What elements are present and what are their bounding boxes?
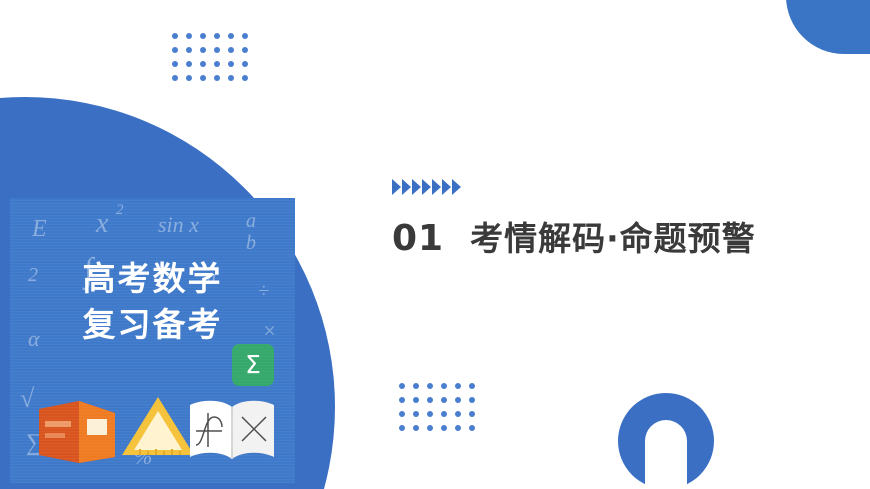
cover-card: Ex2sin xab2∫π÷α×√%∑ 高考数学 复习备考	[10, 198, 295, 483]
dot	[441, 383, 447, 389]
chevron-icon	[432, 179, 441, 195]
dot	[200, 47, 206, 53]
math-symbol: a	[246, 210, 256, 233]
dot	[427, 425, 433, 431]
math-symbol: 2	[116, 202, 124, 219]
chevron-icon	[412, 179, 421, 195]
dot-grid-top	[172, 33, 248, 81]
dot	[413, 383, 419, 389]
section-number: 01	[392, 218, 444, 259]
sigma-badge: Σ	[232, 344, 274, 386]
dot	[455, 383, 461, 389]
dot	[455, 425, 461, 431]
dot	[172, 75, 178, 81]
dot	[455, 397, 461, 403]
dot	[427, 383, 433, 389]
dot	[172, 61, 178, 67]
dot	[200, 61, 206, 67]
math-symbol: sin x	[158, 212, 199, 238]
dot	[399, 411, 405, 417]
chevron-icon	[402, 179, 411, 195]
dot	[172, 33, 178, 39]
dot	[413, 397, 419, 403]
dot	[413, 411, 419, 417]
dot	[228, 75, 234, 81]
chevron-icon	[452, 179, 461, 195]
section-title: 考情解码·命题预警	[470, 212, 756, 260]
dot	[242, 47, 248, 53]
dot	[214, 61, 220, 67]
dot	[186, 61, 192, 67]
triangle-ruler-icon	[120, 395, 196, 457]
dot	[186, 33, 192, 39]
math-symbol: x	[96, 208, 108, 240]
chevron-icon	[392, 179, 401, 195]
slide-canvas: Ex2sin xab2∫π÷α×√%∑ 高考数学 复习备考	[0, 0, 870, 489]
dot	[427, 397, 433, 403]
dot	[441, 397, 447, 403]
dot	[469, 425, 475, 431]
dot	[214, 75, 220, 81]
dot	[427, 411, 433, 417]
top-right-corner-shape	[786, 0, 870, 54]
chevron-icon	[422, 179, 431, 195]
dot	[228, 47, 234, 53]
dot	[469, 411, 475, 417]
dot	[200, 75, 206, 81]
dot	[441, 411, 447, 417]
dot	[172, 47, 178, 53]
dot-grid-bottom	[399, 383, 475, 431]
dot	[186, 75, 192, 81]
dot	[200, 33, 206, 39]
dot	[214, 47, 220, 53]
dot	[228, 61, 234, 67]
dot	[399, 397, 405, 403]
dot	[455, 411, 461, 417]
dot	[399, 383, 405, 389]
dot	[441, 425, 447, 431]
dot	[413, 425, 419, 431]
cover-title-line-2: 复习备考	[10, 302, 295, 348]
cover-title-line-1: 高考数学	[10, 256, 295, 302]
dot	[399, 425, 405, 431]
dot	[242, 75, 248, 81]
dot	[228, 33, 234, 39]
dot	[469, 383, 475, 389]
book-icon	[35, 399, 119, 465]
cover-title: 高考数学 复习备考	[10, 256, 295, 347]
math-symbol: E	[32, 216, 47, 243]
section-heading: 01 考情解码·命题预警	[392, 212, 756, 260]
dot	[186, 47, 192, 53]
open-notebook-icon	[186, 395, 278, 465]
dot	[214, 33, 220, 39]
math-symbol: √	[20, 384, 34, 414]
chevron-icon	[442, 179, 451, 195]
bottom-ring-cutout	[645, 420, 687, 489]
dot	[242, 61, 248, 67]
chevron-arrows-decor	[392, 179, 461, 195]
math-symbol: b	[246, 232, 256, 255]
dot	[469, 397, 475, 403]
dot	[242, 33, 248, 39]
